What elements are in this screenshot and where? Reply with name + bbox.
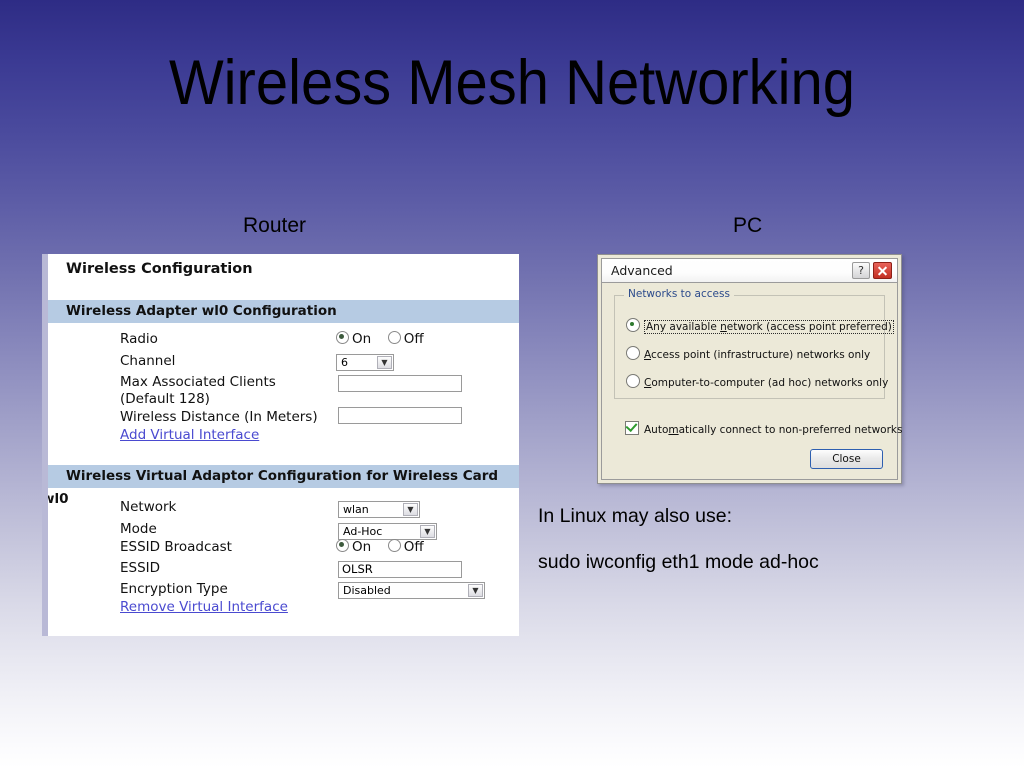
dialog-titlebar[interactable]: Advanced ? xyxy=(602,259,897,283)
input-essid[interactable]: OLSR xyxy=(338,558,462,578)
label-mode: Mode xyxy=(120,521,157,537)
dialog-frame: Advanced ? Networks to access Any availa… xyxy=(601,258,898,480)
select-network[interactable]: wlan▼ xyxy=(338,498,420,518)
radio-any-available-network-label: Any available network (access point pref… xyxy=(644,320,894,334)
section-header-virtual-adaptor-text: Wireless Virtual Adaptor Configuration f… xyxy=(42,468,498,507)
radio-essid-broadcast-off[interactable] xyxy=(388,539,401,552)
input-max-clients[interactable] xyxy=(338,375,462,396)
select-encryption-type[interactable]: Disabled▼ xyxy=(338,579,485,599)
dialog-title: Advanced xyxy=(611,263,673,278)
linux-note-line2: sudo iwconfig eth1 mode ad-hoc xyxy=(538,551,819,574)
label-essid-broadcast: ESSID Broadcast xyxy=(120,539,232,555)
chevron-down-icon[interactable]: ▼ xyxy=(377,356,392,369)
radio-essid-broadcast-on[interactable] xyxy=(336,539,349,552)
select-channel[interactable]: 6▼ xyxy=(336,351,394,371)
input-essid-value[interactable]: OLSR xyxy=(338,561,462,578)
page-title: Wireless Mesh Networking xyxy=(41,52,983,115)
radio-radio-on[interactable] xyxy=(336,331,349,344)
radio-indicator[interactable] xyxy=(626,346,640,360)
radio-group-radio[interactable]: On Off xyxy=(336,331,424,347)
radio-access-point-only[interactable]: Access point (infrastructure) networks o… xyxy=(626,346,870,361)
label-max-clients-line1: Max Associated Clients xyxy=(120,374,276,390)
section-header-adapter: Wireless Adapter wl0 Configuration xyxy=(42,300,519,323)
radio-essid-broadcast-off-label: Off xyxy=(404,539,424,555)
checkbox-auto-connect[interactable]: Automatically connect to non-preferred n… xyxy=(625,421,902,436)
column-heading-router: Router xyxy=(243,214,306,238)
close-icon[interactable] xyxy=(873,262,892,279)
close-button[interactable]: Close xyxy=(810,449,883,469)
input-max-clients-value[interactable] xyxy=(338,375,462,392)
radio-radio-off[interactable] xyxy=(388,331,401,344)
router-page-title: Wireless Configuration xyxy=(42,254,519,284)
section-header-adapter-text: Wireless Adapter wl0 Configuration xyxy=(66,303,337,319)
radio-essid-broadcast-on-label: On xyxy=(352,539,371,555)
radio-indicator[interactable] xyxy=(626,374,640,388)
label-wireless-distance: Wireless Distance (In Meters) xyxy=(120,409,318,425)
section-header-virtual-adaptor: Wireless Virtual Adaptor Configuration f… xyxy=(42,465,519,488)
select-channel-value: 6 xyxy=(341,356,348,369)
label-encryption-type: Encryption Type xyxy=(120,581,228,597)
radio-computer-to-computer-only[interactable]: Computer-to-computer (ad hoc) networks o… xyxy=(626,374,888,389)
router-config-panel: Wireless Configuration Wireless Adapter … xyxy=(42,254,519,636)
column-heading-pc: PC xyxy=(733,214,762,238)
link-add-virtual-interface[interactable]: Add Virtual Interface xyxy=(120,427,259,443)
radio-group-essid-broadcast[interactable]: On Off xyxy=(336,539,424,555)
chevron-down-icon[interactable]: ▼ xyxy=(403,503,418,516)
help-icon[interactable]: ? xyxy=(852,262,870,279)
label-network: Network xyxy=(120,499,176,515)
label-essid: ESSID xyxy=(120,560,160,576)
select-encryption-type-value: Disabled xyxy=(343,584,391,597)
advanced-dialog: Advanced ? Networks to access Any availa… xyxy=(597,254,902,484)
input-wireless-distance[interactable] xyxy=(338,407,462,428)
chevron-down-icon[interactable]: ▼ xyxy=(420,525,435,538)
networks-to-access-group: Networks to access Any available network… xyxy=(614,295,885,399)
label-channel: Channel xyxy=(120,353,175,369)
checkbox-auto-connect-label: Automatically connect to non-preferred n… xyxy=(644,424,902,436)
checkbox-indicator[interactable] xyxy=(625,421,639,435)
group-legend: Networks to access xyxy=(624,288,734,300)
radio-radio-off-label: Off xyxy=(404,331,424,347)
input-wireless-distance-value[interactable] xyxy=(338,407,462,424)
linux-note-line1: In Linux may also use: xyxy=(538,505,732,528)
label-max-clients-line2: (Default 128) xyxy=(120,391,210,407)
label-radio: Radio xyxy=(120,331,158,347)
select-mode[interactable]: Ad-Hoc▼ xyxy=(338,520,437,540)
link-remove-virtual-interface[interactable]: Remove Virtual Interface xyxy=(120,599,288,615)
radio-computer-to-computer-only-label: Computer-to-computer (ad hoc) networks o… xyxy=(644,377,888,389)
router-page-title-text: Wireless Configuration xyxy=(66,261,253,277)
radio-indicator[interactable] xyxy=(626,318,640,332)
radio-any-available-network[interactable]: Any available network (access point pref… xyxy=(626,318,894,333)
chevron-down-icon[interactable]: ▼ xyxy=(468,584,483,597)
radio-access-point-only-label: Access point (infrastructure) networks o… xyxy=(644,349,870,361)
select-mode-value: Ad-Hoc xyxy=(343,525,382,538)
radio-radio-on-label: On xyxy=(352,331,371,347)
select-network-value: wlan xyxy=(343,503,369,516)
